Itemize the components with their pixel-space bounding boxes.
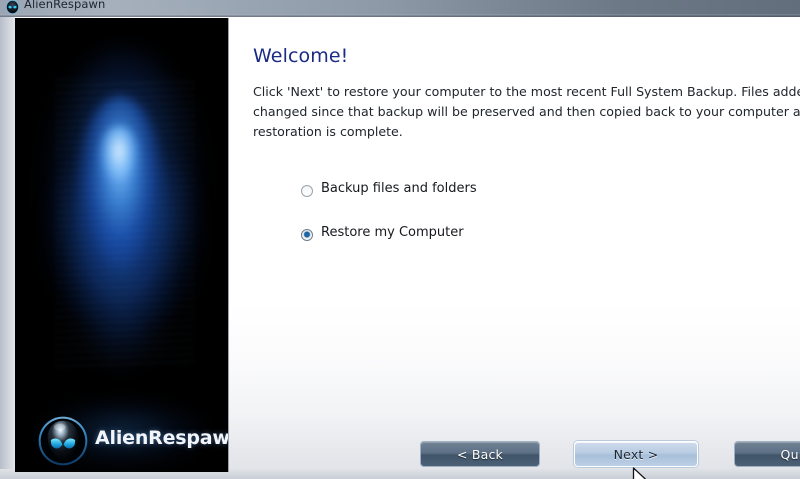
page-description: Click 'Next' to restore your computer to… xyxy=(253,82,800,142)
radio-label: Backup files and folders xyxy=(321,181,477,196)
back-button[interactable]: < Back xyxy=(420,441,540,467)
quit-button[interactable]: Quit xyxy=(734,441,800,467)
window-left-frame xyxy=(0,17,15,479)
radio-indicator-selected[interactable] xyxy=(301,229,313,241)
content-pane: Welcome! Click 'Next' to restore your co… xyxy=(229,18,800,472)
title-bar[interactable]: AlienRespawn xyxy=(0,0,800,17)
radio-option-restore-computer[interactable]: Restore my Computer xyxy=(301,225,701,249)
alienrespawn-window: AlienRespawn xyxy=(0,0,800,479)
radio-label: Restore my Computer xyxy=(321,225,464,240)
alien-head-icon xyxy=(5,0,20,15)
window-title: AlienRespawn xyxy=(24,0,105,11)
radio-indicator[interactable] xyxy=(301,185,313,197)
next-button[interactable]: Next > xyxy=(574,441,698,467)
sidebar-panel: AlienRespawn™ xyxy=(15,18,229,472)
page-title: Welcome! xyxy=(253,45,348,67)
radio-option-backup-files[interactable]: Backup files and folders xyxy=(301,181,701,205)
window-body: AlienRespawn™ Welcome! Click 'Next' to r… xyxy=(0,17,800,479)
artwork-vignette xyxy=(15,18,228,472)
wizard-footer: < Back Next > Quit xyxy=(0,435,800,479)
restore-options-group: Backup files and folders Restore my Comp… xyxy=(301,181,701,269)
blue-flame-artwork xyxy=(15,18,228,472)
